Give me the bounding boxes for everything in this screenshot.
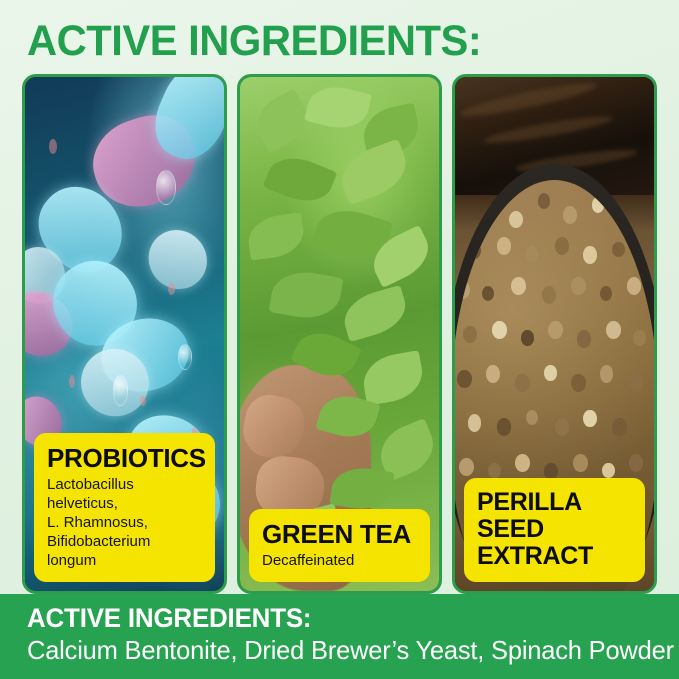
ingredient-panel-green-tea[interactable]: GREEN TEA Decaffeinated [237, 74, 442, 594]
footer-title: ACTIVE INGREDIENTS: [27, 603, 627, 634]
ingredient-name: PERILLA SEED EXTRACT [477, 489, 632, 570]
ingredient-panel-probiotics[interactable]: PROBIOTICS Lactobacillus helveticus, L. … [22, 74, 227, 594]
ingredient-label-perilla-seed: PERILLA SEED EXTRACT [464, 478, 645, 582]
footer-ingredients-list: Calcium Bentonite, Dried Brewer’s Yeast,… [27, 634, 640, 666]
ingredient-name: PROBIOTICS [47, 444, 202, 472]
active-ingredients-infographic: ACTIVE INGREDIENTS: [0, 0, 679, 679]
ingredient-panel-perilla-seed[interactable]: PERILLA SEED EXTRACT [452, 74, 657, 594]
ingredient-label-probiotics: PROBIOTICS Lactobacillus helveticus, L. … [34, 433, 215, 582]
ingredient-label-green-tea: GREEN TEA Decaffeinated [249, 509, 430, 582]
ingredient-panel-row: PROBIOTICS Lactobacillus helveticus, L. … [0, 74, 679, 594]
ingredient-detail: Lactobacillus helveticus, L. Rhamnosus, … [47, 475, 202, 570]
ingredient-detail: Decaffeinated [262, 551, 417, 570]
ingredient-name: GREEN TEA [262, 520, 417, 548]
page-title: ACTIVE INGREDIENTS: [27, 17, 628, 65]
footer-banner: ACTIVE INGREDIENTS: Calcium Bentonite, D… [0, 594, 679, 679]
